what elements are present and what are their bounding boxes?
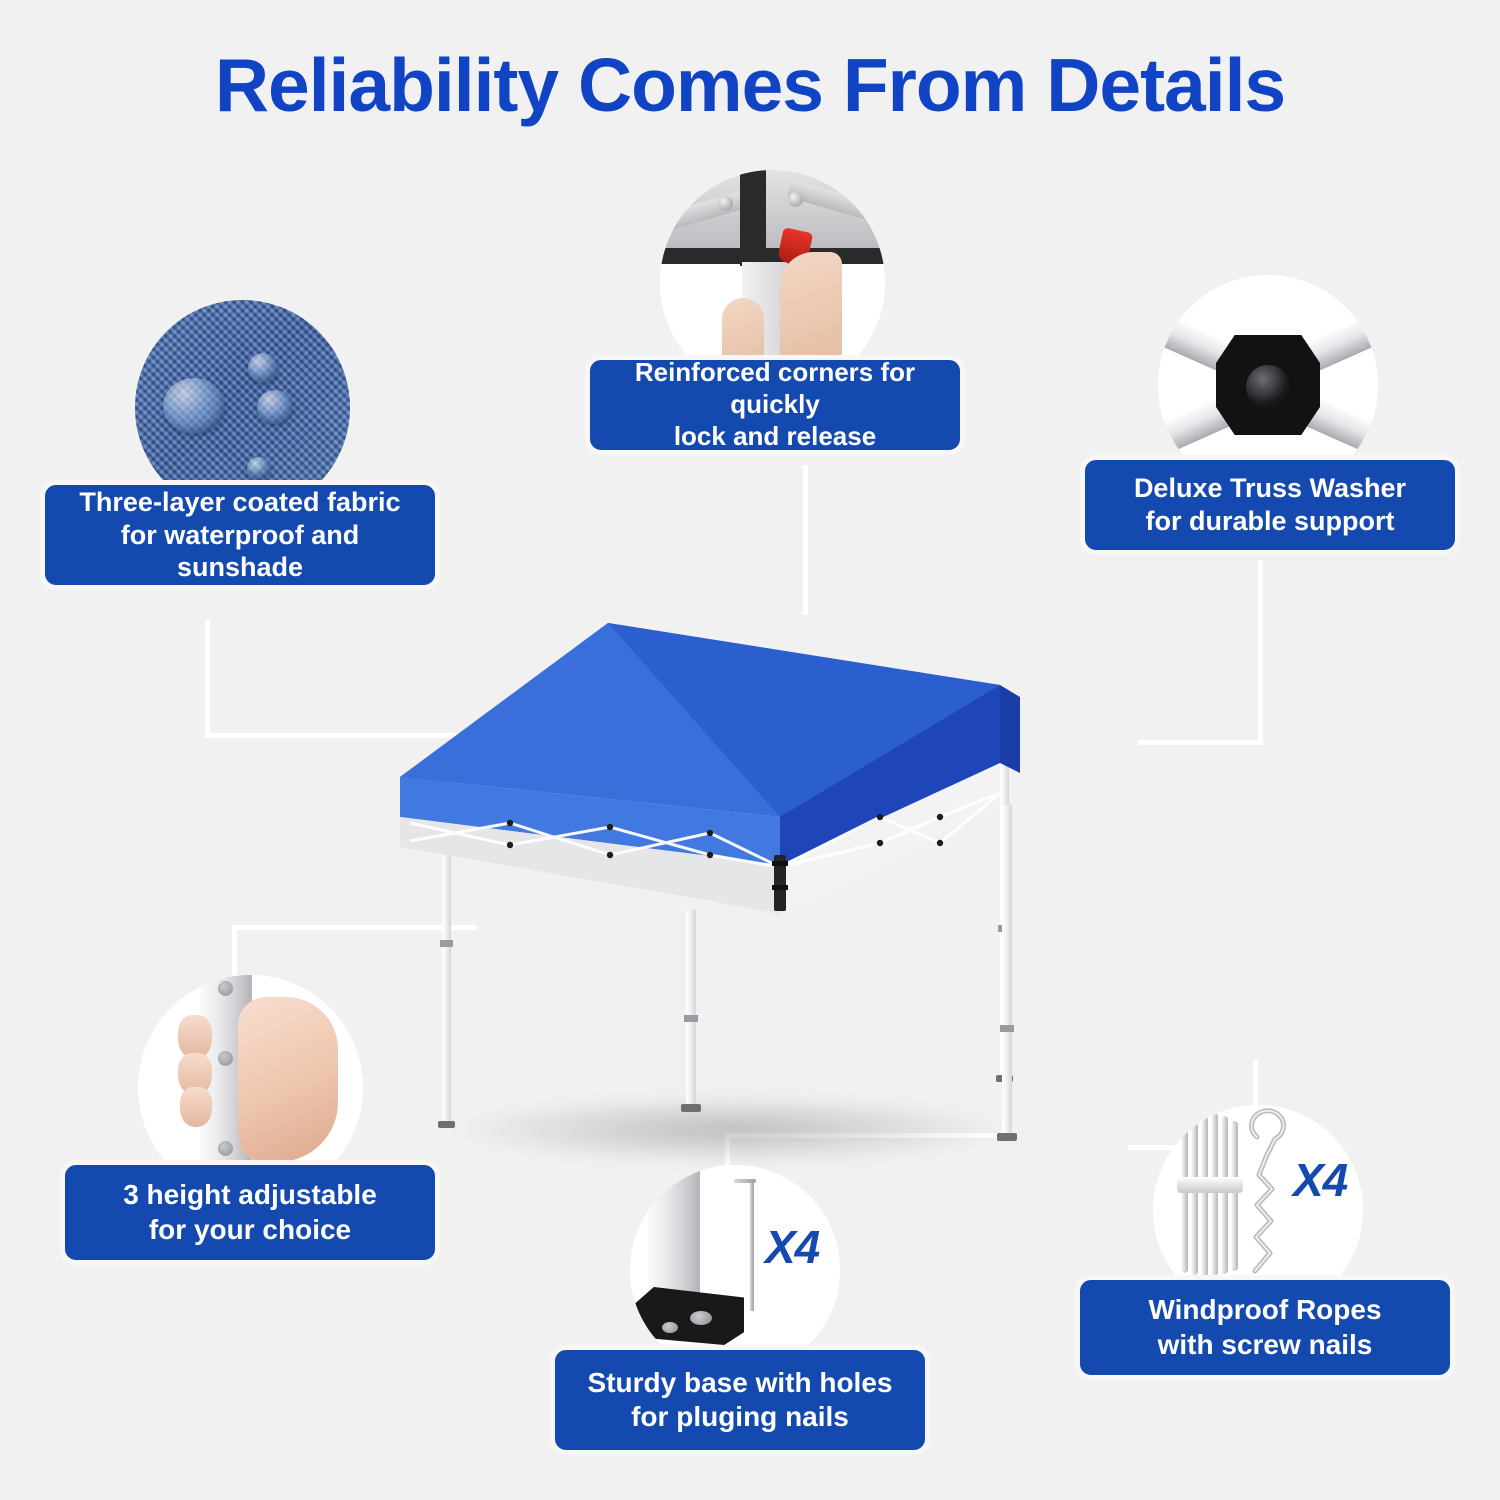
stake-nail bbox=[750, 1183, 754, 1311]
base-quantity-label: X4 bbox=[765, 1220, 819, 1274]
screw-icon bbox=[718, 196, 733, 211]
canopy-leg-front-left bbox=[686, 910, 696, 1110]
water-droplet bbox=[257, 390, 293, 424]
callout-fabric-bubble[interactable]: Three-layer coated fabric for waterproof… bbox=[40, 480, 440, 590]
callout-base-line2: for pluging nails bbox=[588, 1400, 893, 1434]
callout-ropes-line2: with screw nails bbox=[1148, 1328, 1381, 1362]
screw-icon bbox=[788, 192, 803, 207]
adjust-hole bbox=[218, 1051, 233, 1066]
callout-ropes-bubble[interactable]: Windproof Ropes with screw nails bbox=[1075, 1275, 1455, 1380]
callout-truss-line2: for durable support bbox=[1134, 505, 1406, 538]
leg-collar bbox=[1000, 1025, 1014, 1032]
canopy-roof bbox=[380, 555, 1200, 1195]
callout-height-bubble[interactable]: 3 height adjustable for your choice bbox=[60, 1160, 440, 1265]
nail-hole bbox=[662, 1322, 678, 1333]
callout-height-line2: for your choice bbox=[123, 1213, 377, 1247]
water-droplet bbox=[248, 353, 278, 383]
callout-base-bubble[interactable]: Sturdy base with holes for pluging nails bbox=[550, 1345, 930, 1455]
corner-bracket bbox=[740, 170, 766, 266]
stake-head bbox=[734, 1179, 756, 1183]
leg-collar bbox=[684, 1015, 698, 1022]
callout-truss: Deluxe Truss Washer for durable support bbox=[1070, 275, 1470, 565]
callout-fabric-line1: Three-layer coated fabric bbox=[55, 486, 425, 519]
canopy-leg-front-right bbox=[1002, 805, 1012, 1140]
page-title: Reliability Comes From Details bbox=[0, 42, 1500, 128]
ropes-quantity-label: X4 bbox=[1293, 1153, 1347, 1207]
product-canopy-tent bbox=[380, 555, 1200, 1195]
callout-ropes-line1: Windproof Ropes bbox=[1148, 1293, 1381, 1327]
callout-corners: Reinforced corners for quickly lock and … bbox=[575, 170, 975, 470]
callout-base-line1: Sturdy base with holes bbox=[588, 1366, 893, 1400]
callout-fabric-line2: for waterproof and sunshade bbox=[55, 519, 425, 585]
callout-corners-line2: lock and release bbox=[600, 421, 950, 453]
callout-height-line1: 3 height adjustable bbox=[123, 1178, 377, 1212]
nail-hole bbox=[690, 1311, 712, 1325]
truss-washer-bolt bbox=[1246, 365, 1290, 409]
adjust-hole bbox=[218, 1141, 233, 1156]
base-foot bbox=[634, 1287, 744, 1345]
water-droplet bbox=[247, 457, 271, 479]
callout-corners-line1: Reinforced corners for quickly bbox=[600, 357, 950, 420]
leg-foot-cap bbox=[681, 1104, 701, 1112]
hand-palm bbox=[238, 997, 338, 1162]
callout-corners-bubble[interactable]: Reinforced corners for quickly lock and … bbox=[585, 355, 965, 455]
leg-foot-cap bbox=[997, 1133, 1017, 1141]
finger bbox=[180, 1087, 212, 1127]
callout-truss-bubble[interactable]: Deluxe Truss Washer for durable support bbox=[1080, 455, 1460, 555]
water-droplet bbox=[163, 378, 225, 434]
infographic-canvas: Reliability Comes From Details bbox=[0, 0, 1500, 1500]
callout-base: X4 Sturdy base with holes for pluging na… bbox=[540, 1165, 940, 1465]
adjust-hole bbox=[218, 981, 233, 996]
callout-truss-line1: Deluxe Truss Washer bbox=[1134, 472, 1406, 505]
callout-fabric: Three-layer coated fabric for waterproof… bbox=[40, 300, 460, 620]
